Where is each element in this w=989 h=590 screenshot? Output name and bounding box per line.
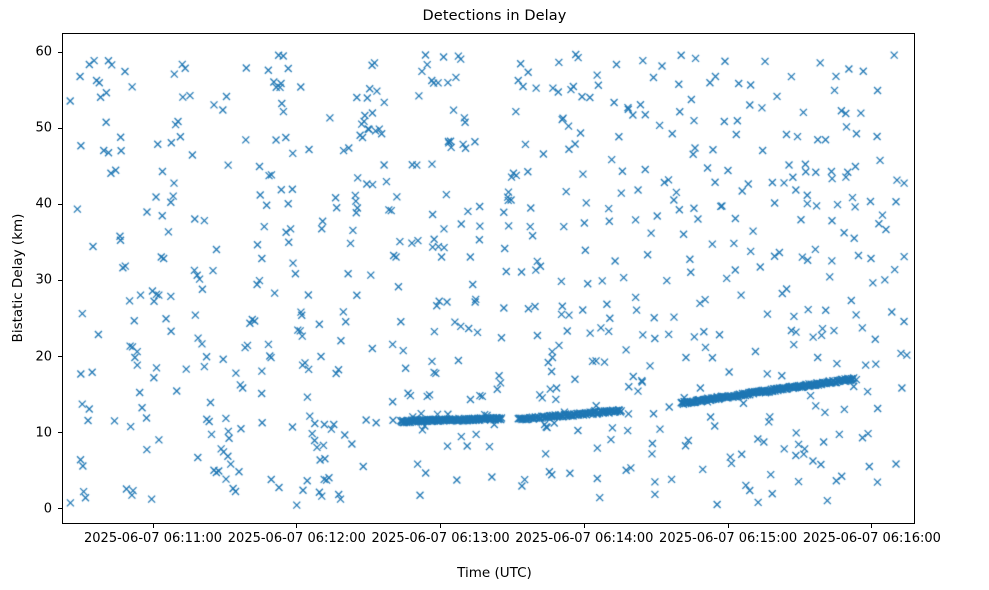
x-tick-mark	[153, 524, 154, 528]
y-tick-mark	[58, 356, 62, 357]
y-tick-mark	[58, 128, 62, 129]
y-tick-mark	[58, 52, 62, 53]
x-axis-label: Time (UTC)	[0, 565, 989, 581]
x-tick-mark	[296, 524, 297, 528]
x-tick-mark	[871, 524, 872, 528]
chart-title: Detections in Delay	[0, 8, 989, 24]
scatter-plot-canvas	[63, 34, 915, 524]
x-tick-mark	[584, 524, 585, 528]
y-tick-mark	[58, 204, 62, 205]
y-tick-label: 0	[0, 501, 52, 516]
figure-canvas: Detections in Delay 0102030405060 2025-0…	[0, 0, 989, 590]
y-tick-label: 30	[0, 273, 52, 288]
y-tick-label: 20	[0, 349, 52, 364]
x-tick-label: 2025-06-07 06:11:00	[84, 531, 222, 546]
plot-area	[62, 33, 915, 524]
x-tick-mark	[728, 524, 729, 528]
x-tick-label: 2025-06-07 06:15:00	[659, 531, 797, 546]
x-tick-label: 2025-06-07 06:16:00	[803, 531, 941, 546]
y-axis-label: Bistatic Delay (km)	[10, 214, 26, 343]
x-tick-label: 2025-06-07 06:14:00	[515, 531, 653, 546]
y-tick-label: 40	[0, 197, 52, 212]
x-tick-label: 2025-06-07 06:12:00	[228, 531, 366, 546]
y-tick-label: 60	[0, 45, 52, 60]
y-tick-label: 10	[0, 425, 52, 440]
y-tick-label: 50	[0, 121, 52, 136]
y-tick-mark	[58, 432, 62, 433]
y-tick-mark	[58, 508, 62, 509]
x-tick-mark	[440, 524, 441, 528]
x-tick-label: 2025-06-07 06:13:00	[372, 531, 510, 546]
y-tick-mark	[58, 280, 62, 281]
